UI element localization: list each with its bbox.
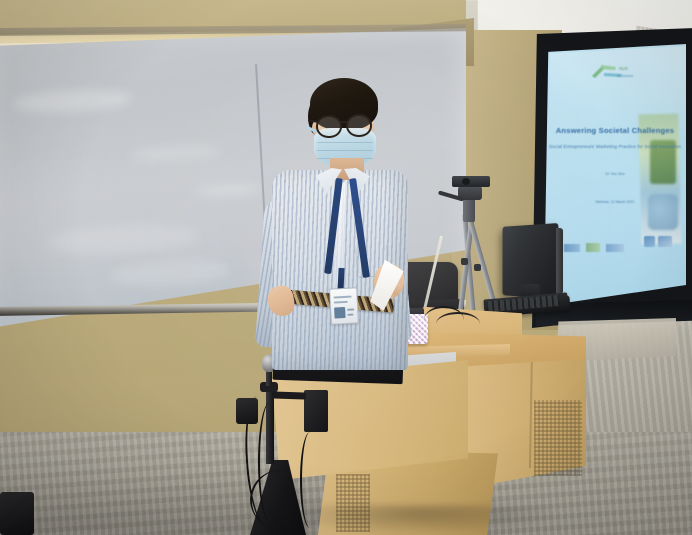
- sponsor-logo-1: [564, 244, 580, 252]
- desk-cables: [424, 306, 488, 336]
- tripod-lock[interactable]: [461, 258, 468, 265]
- institution-logo: NUS Business: [588, 62, 642, 82]
- svg-text:NUS: NUS: [619, 66, 628, 71]
- sponsor-logo-4: [644, 236, 655, 247]
- sponsor-logo-5: [658, 236, 672, 247]
- photo-scene: NUS Business Answering Societal Challeng…: [0, 0, 692, 535]
- camera-lens-icon: [462, 178, 470, 185]
- round-eyeglasses: [314, 114, 378, 134]
- floor-black-object: [0, 492, 34, 535]
- badge-photo: [334, 307, 346, 319]
- svg-text:Business: Business: [617, 73, 633, 78]
- sponsor-logo-3: [606, 244, 624, 252]
- video-camera[interactable]: [452, 176, 490, 187]
- lectern-vent-grille: [534, 400, 582, 476]
- presenter-person: [252, 78, 412, 378]
- projection-screen[interactable]: NUS Business Answering Societal Challeng…: [544, 44, 686, 306]
- mic-equipment-box: [304, 390, 328, 432]
- id-badge: [329, 287, 359, 324]
- monitor-edge: [556, 228, 563, 294]
- slide-date: Webinar, 12 March 2021: [544, 200, 686, 204]
- slide-subtitle: Social Entrepreneurs' Marketing Practice…: [544, 144, 686, 149]
- slide-bottom-logos: [548, 240, 682, 256]
- sponsor-logo-2: [586, 243, 600, 252]
- mic-boom-arm: [272, 391, 306, 399]
- tripod-lock[interactable]: [474, 264, 481, 271]
- eyeglass-lens-left: [316, 115, 342, 138]
- eyeglass-lens-right: [346, 114, 372, 137]
- slide-presenter: Dr Yeo Shu: [544, 172, 686, 176]
- floor-equipment-box: [236, 398, 258, 424]
- slide-title: Answering Societal Challenges: [544, 126, 686, 135]
- eyeglass-bridge: [339, 121, 348, 123]
